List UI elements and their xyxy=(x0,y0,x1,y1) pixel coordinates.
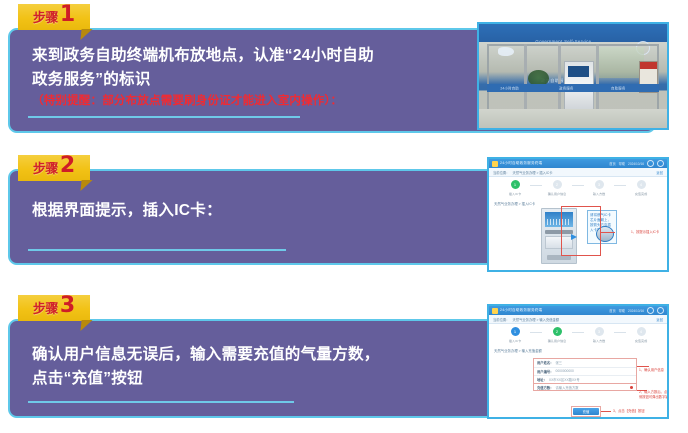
step-badge-3: 步骤 3 xyxy=(18,295,90,321)
recharge-amount-placeholder: 请输入充值方数 xyxy=(555,385,578,390)
stepper-connector xyxy=(530,185,542,186)
kiosk-ui-recharge: 24小时自助政务服务终端 首页 帮助 2024/10/16 当前位置： 天然气业… xyxy=(489,306,667,417)
ui-topbar-help[interactable]: 帮助 xyxy=(619,308,625,313)
kiosk-entrance-photo: Government Self-Service 政务自助服务终端 24小时自助 … xyxy=(479,24,667,128)
ui-breadcrumb: 当前位置： 天然气业务办理 > 输入充值金额 返回 xyxy=(489,315,667,324)
stepper-item-2: 2 确认用户信息 xyxy=(544,180,570,196)
step-badge-number: 3 xyxy=(60,295,75,317)
photo-door-label-2: 政务服务 xyxy=(559,85,573,90)
recharge-amount-field[interactable]: 充值方数： 请输入充值方数 xyxy=(533,383,637,391)
photo-notice-board-header xyxy=(640,62,657,69)
breadcrumb-back-link[interactable]: 返回 xyxy=(656,170,663,175)
annotation-leader-1 xyxy=(601,232,615,233)
ui-topbar-date: 2024/10/16 xyxy=(628,309,644,313)
stepper-circle-4: 4 xyxy=(637,180,646,189)
photo-door-label-band: 24小时自助 政务服务 自助服务 xyxy=(487,84,660,91)
user-info-row: 用户编号： 0000000000 xyxy=(534,368,636,377)
help-icon[interactable] xyxy=(647,160,654,167)
help-icon[interactable] xyxy=(647,307,654,314)
ui-topbar: 24小时自助政务服务终端 首页 帮助 2024/10/16 xyxy=(489,306,667,315)
breadcrumb-prefix: 当前位置： xyxy=(493,317,509,322)
stepper-circle-3: 3 xyxy=(595,180,604,189)
stepper-circle-3: 3 xyxy=(595,327,604,336)
stepper-label-3: 输入方数 xyxy=(593,191,605,196)
badge-tail-icon xyxy=(80,180,92,191)
step-badge-word: 步骤 xyxy=(33,162,58,175)
illustration-printer xyxy=(545,236,573,249)
user-icon[interactable] xyxy=(657,307,664,314)
illustration-tray xyxy=(547,255,571,260)
step-block-3: 步骤 3 确认用户信息无误后，输入需要充值的气量方数， 点击“充值”按钮 24小… xyxy=(0,290,688,433)
stepper-circle-2: 2 xyxy=(553,327,562,336)
annotation-note-1: 1、确认用户信息 xyxy=(639,368,664,373)
stepper-item-4: 4 充值完成 xyxy=(628,327,654,343)
photo-door-label-1: 24小时自助 xyxy=(500,85,519,90)
step-1-note: （特别提醒：部分布放点需要刷身份证才能进入室内操作）： xyxy=(32,92,504,112)
user-name-label: 用户姓名： xyxy=(537,360,553,365)
stepper-item-4: 4 充值完成 xyxy=(628,180,654,196)
step-badge-2: 步骤 2 xyxy=(18,155,90,181)
app-logo-icon xyxy=(492,161,498,167)
user-info-panel: 用户姓名： 张三 用户编号： 0000000000 地址： XX市XX区XX路X… xyxy=(533,358,637,385)
stepper-label-4: 充值完成 xyxy=(635,338,647,343)
photo-ground xyxy=(479,109,667,128)
ui-topbar-right: 首页 帮助 2024/10/16 xyxy=(609,160,664,167)
ui-topbar: 24小时自助政务服务终端 首页 帮助 2024/10/16 xyxy=(489,159,667,168)
app-logo-icon xyxy=(492,308,498,314)
stepper-label-4: 充值完成 xyxy=(635,191,647,196)
user-address-value: XX市XX区XX路XX号 xyxy=(549,377,580,382)
step-3-accent-rule xyxy=(28,401,294,403)
stepper-item-1: 1 插入IC卡 xyxy=(502,327,528,343)
ui-section-title: 天然气业务办理 > 输入充值金额 xyxy=(494,348,542,353)
step-card-3-text: 确认用户信息无误后，输入需要充值的气量方数， 点击“充值”按钮 xyxy=(32,343,504,391)
stepper-circle-1: 1 xyxy=(511,180,520,189)
badge-tail-icon xyxy=(80,320,92,331)
annotation-note-3: 3、点击【充值】按钮 xyxy=(613,409,645,414)
step-2-accent-rule xyxy=(28,249,286,251)
badge-tail-icon xyxy=(80,29,92,40)
step-card-2-text: 根据界面提示，插入IC卡： xyxy=(32,199,504,223)
poster-canvas: 步骤 1 来到政务自助终端机布放地点，认准“24小时自助 政务服务”的标识 （特… xyxy=(0,0,688,433)
step-badge-word: 步骤 xyxy=(33,302,58,315)
recharge-button-highlight: 充值 xyxy=(571,406,601,417)
step-badge-number: 2 xyxy=(60,155,75,177)
step-badge-number: 1 xyxy=(60,4,75,26)
stepper-circle-1: 1 xyxy=(511,327,520,336)
ui-app-title: 24小时自助政务服务终端 xyxy=(500,161,542,166)
stepper-label-1: 插入IC卡 xyxy=(509,191,521,196)
breadcrumb-current: 天然气业务办理 > 输入充值金额 xyxy=(512,317,559,322)
stepper-connector xyxy=(614,332,626,333)
stepper-label-2: 确认用户信息 xyxy=(548,338,567,343)
ui-breadcrumb: 当前位置： 天然气业务办理 > 插入IC卡 返回 xyxy=(489,168,667,177)
ui-progress-stepper: 1 插入IC卡 2 确认用户信息 3 输入方数 4 xyxy=(489,178,667,202)
user-info-row: 用户姓名： 张三 xyxy=(534,359,636,368)
annotation-leader-3 xyxy=(601,411,611,412)
breadcrumb-back-link[interactable]: 返回 xyxy=(656,317,663,322)
user-icon[interactable] xyxy=(657,160,664,167)
illustration-direction-arrow-icon xyxy=(571,234,577,240)
stepper-connector xyxy=(530,332,542,333)
stepper-connector xyxy=(614,185,626,186)
recharge-amount-label: 充值方数： xyxy=(537,385,553,390)
stepper-item-3: 3 输入方数 xyxy=(586,180,612,196)
user-number-label: 用户编号： xyxy=(537,369,553,374)
breadcrumb-current: 天然气业务办理 > 插入IC卡 xyxy=(512,170,552,175)
user-address-label: 地址： xyxy=(537,377,547,382)
illustration-hand-photo xyxy=(596,226,614,242)
illustration-callout: 请将燃气IC卡芯片面朝上，按箭头方向插入卡槽 xyxy=(587,210,617,244)
stepper-circle-4: 4 xyxy=(637,327,646,336)
step-3-media-screenshot: 24小时自助政务服务终端 首页 帮助 2024/10/16 当前位置： 天然气业… xyxy=(487,304,669,419)
ui-app-title: 24小时自助政务服务终端 xyxy=(500,308,542,313)
step-1-accent-rule xyxy=(28,116,300,118)
insert-card-illustration: 请将燃气IC卡芯片面朝上，按箭头方向插入卡槽 xyxy=(539,208,617,262)
stepper-item-1: 1 插入IC卡 xyxy=(502,180,528,196)
annotation-note-2: 2、输入方数后，点击右侧按钮可弹出数字键盘 xyxy=(639,390,669,399)
step-badge-word: 步骤 xyxy=(33,11,58,24)
illustration-machine-screen xyxy=(545,212,573,227)
annotation-note-1: 1、按提示插入IC卡 xyxy=(631,230,659,235)
user-name-value: 张三 xyxy=(555,360,562,365)
user-number-value: 0000000000 xyxy=(555,369,573,373)
ui-topbar-home[interactable]: 首页 xyxy=(609,308,615,313)
illustration-screen-lines xyxy=(547,219,571,225)
photo-machine-screen xyxy=(568,66,589,77)
stepper-label-2: 确认用户信息 xyxy=(548,191,567,196)
illustration-card-slot xyxy=(545,230,573,234)
step-block-2: 步骤 2 根据界面提示，插入IC卡： 24小时自助政务服务终端 首页 帮助 20… xyxy=(0,145,688,290)
stepper-label-1: 插入IC卡 xyxy=(509,338,521,343)
keypad-icon[interactable] xyxy=(630,386,633,389)
kiosk-ui-insert-card: 24小时自助政务服务终端 首页 帮助 2024/10/16 当前位置： 天然气业… xyxy=(489,159,667,270)
stepper-connector xyxy=(572,332,584,333)
stepper-item-3: 3 输入方数 xyxy=(586,327,612,343)
ui-topbar-help[interactable]: 帮助 xyxy=(619,161,625,166)
step-1-media-photo: Government Self-Service 政务自助服务终端 24小时自助 … xyxy=(477,22,669,130)
step-1-line-2: 政务服务”的标识 xyxy=(32,68,504,92)
ui-topbar-home[interactable]: 首页 xyxy=(609,161,615,166)
ui-topbar-right: 首页 帮助 2024/10/16 xyxy=(609,307,664,314)
step-3-line-2: 点击“充值”按钮 xyxy=(32,367,504,391)
stepper-label-3: 输入方数 xyxy=(593,338,605,343)
ui-topbar-date: 2024/10/16 xyxy=(628,162,644,166)
stepper-circle-2: 2 xyxy=(553,180,562,189)
stepper-item-2: 2 确认用户信息 xyxy=(544,327,570,343)
recharge-button[interactable]: 充值 xyxy=(573,408,599,415)
photo-door-label-3: 自助服务 xyxy=(611,85,625,90)
step-3-line-1: 确认用户信息无误后，输入需要充值的气量方数， xyxy=(32,343,504,367)
breadcrumb-prefix: 当前位置： xyxy=(493,170,509,175)
step-card-1-text: 来到政务自助终端机布放地点，认准“24小时自助 政务服务”的标识 （特别提醒：部… xyxy=(32,44,504,112)
ui-progress-stepper: 1 插入IC卡 2 确认用户信息 3 输入方数 4 xyxy=(489,325,667,349)
step-2-line-1: 根据界面提示，插入IC卡： xyxy=(32,199,504,223)
annotation-leader-1 xyxy=(637,366,649,367)
step-badge-1: 步骤 1 xyxy=(18,4,90,30)
step-block-1: 步骤 1 来到政务自助终端机布放地点，认准“24小时自助 政务服务”的标识 （特… xyxy=(0,0,688,145)
step-1-line-1: 来到政务自助终端机布放地点，认准“24小时自助 xyxy=(32,44,504,68)
step-2-media-screenshot: 24小时自助政务服务终端 首页 帮助 2024/10/16 当前位置： 天然气业… xyxy=(487,157,669,272)
ui-section-title: 天然气业务办理 > 插入IC卡 xyxy=(494,201,535,206)
stepper-connector xyxy=(572,185,584,186)
